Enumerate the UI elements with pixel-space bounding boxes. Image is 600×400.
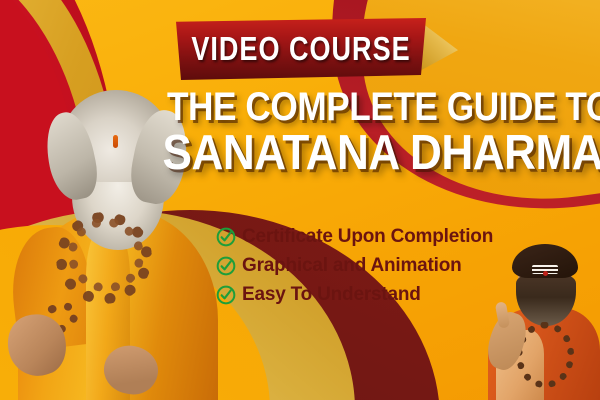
sage-left-tilaka-mark [113, 135, 118, 148]
video-course-poster: VIDEO COURSE THE COMPLETE GUIDE TO SANAT… [0, 0, 600, 400]
headline-line-1: THE COMPLETE GUIDE TO [167, 88, 563, 127]
feature-list: Certificate Upon Completion Graphical an… [216, 226, 493, 313]
video-course-badge-label: VIDEO COURSE [199, 18, 404, 80]
list-item: Easy To Understand [216, 284, 493, 306]
sage-right-bindi-dot [543, 271, 548, 276]
check-circle-icon [216, 285, 236, 305]
feature-label: Certificate Upon Completion [242, 226, 493, 248]
check-circle-icon [216, 227, 236, 247]
list-item: Certificate Upon Completion [216, 226, 493, 248]
page-title: THE COMPLETE GUIDE TO SANATANA DHARMA [140, 88, 590, 179]
feature-label: Easy To Understand [242, 284, 421, 306]
headline-line-2: SANATANA DHARMA [163, 129, 568, 179]
check-circle-icon [216, 256, 236, 276]
sage-illustration-right [482, 242, 600, 400]
feature-label: Graphical and Animation [242, 255, 462, 277]
video-course-badge: VIDEO COURSE [176, 18, 426, 80]
list-item: Graphical and Animation [216, 255, 493, 277]
